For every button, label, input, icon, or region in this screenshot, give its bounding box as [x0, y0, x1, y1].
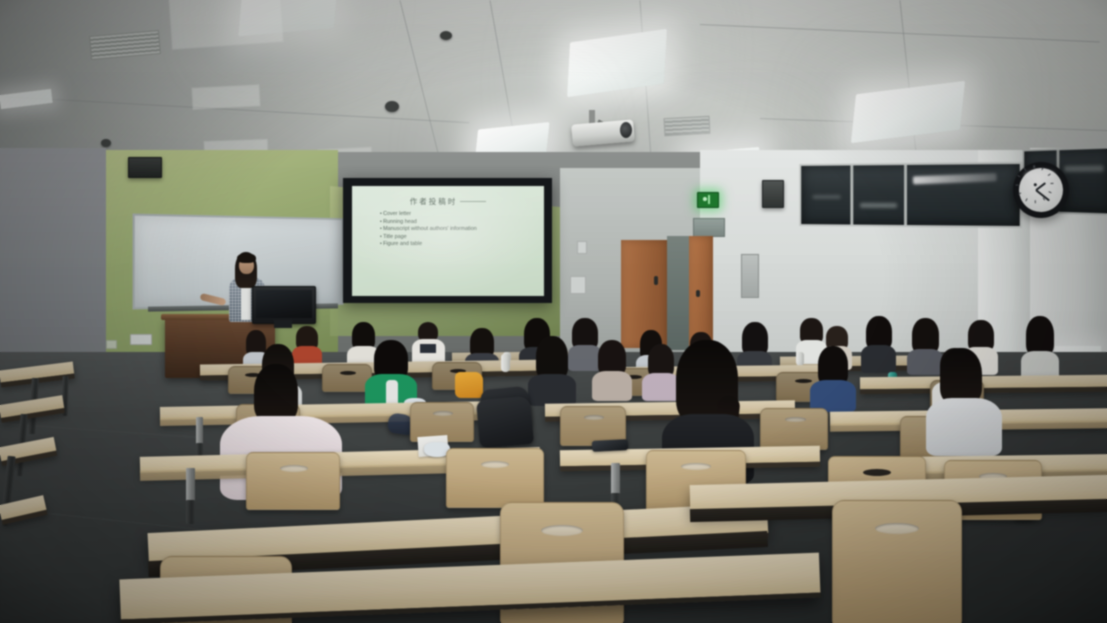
- window-mullion: [904, 165, 907, 225]
- chair-handle-slot: [340, 371, 356, 375]
- student-torso: [528, 374, 576, 406]
- door-transom-window: [693, 218, 725, 237]
- slide-bullet: Title page: [380, 234, 530, 242]
- water-bottle: [501, 354, 510, 372]
- chair-handle-slot: [481, 461, 509, 468]
- monitor-stand: [274, 320, 292, 328]
- chair-handle-slot: [875, 523, 919, 534]
- student-hair: [1026, 316, 1054, 356]
- chair-handle-slot: [785, 417, 806, 422]
- slide-bullet: Cover letter: [380, 211, 530, 219]
- projector-lens-icon: [620, 122, 632, 138]
- chair-handle-slot: [795, 379, 812, 383]
- chair-handle-slot: [541, 525, 583, 536]
- door-handle-icon[interactable]: [654, 276, 658, 285]
- classroom-photo: 作者投稿时 Cover letter Running head Manuscri…: [0, 0, 1107, 623]
- podium-monitor: [252, 286, 316, 324]
- smoke-detector-icon: [385, 101, 399, 112]
- window-reflection: [860, 203, 897, 208]
- ceiling-tile: [191, 84, 260, 110]
- wall-socket: [130, 334, 152, 345]
- desk-leg: [186, 468, 195, 502]
- chair-handle-slot: [584, 415, 604, 420]
- student-torso: [592, 371, 632, 401]
- chair[interactable]: [246, 452, 340, 510]
- window-mullion: [850, 165, 853, 224]
- slide-content: 作者投稿时 Cover letter Running head Manuscri…: [352, 186, 544, 296]
- chair-foreground[interactable]: [832, 500, 962, 623]
- presenter-inner-shirt: [241, 284, 251, 320]
- student-hair: [940, 348, 982, 404]
- slide-title-underline: [460, 201, 486, 202]
- slide-bullet: Manuscript without authors' information: [380, 226, 530, 234]
- projection-screen: 作者投稿时 Cover letter Running head Manuscri…: [352, 186, 544, 296]
- slide-title: 作者投稿时: [366, 196, 530, 207]
- student-torso: [907, 349, 943, 375]
- door-jamb: [667, 236, 689, 350]
- slide-bullet-list: Cover letter Running head Manuscript wit…: [380, 211, 530, 249]
- desk-leg: [196, 417, 203, 445]
- desk-leg: [611, 463, 620, 495]
- student-torso: [861, 345, 896, 373]
- window-reflection: [812, 195, 840, 199]
- presenter-hair-top: [237, 253, 256, 263]
- water-bottle: [796, 352, 804, 366]
- chair[interactable]: [446, 448, 544, 508]
- wall-plate: [577, 241, 587, 254]
- monitor-screen: [256, 290, 312, 318]
- chair-handle-slot: [863, 469, 891, 476]
- student-torso: [926, 398, 1002, 456]
- wall-speaker: [762, 180, 784, 208]
- clerestory-window: [799, 162, 1022, 228]
- desk-leg: [186, 500, 195, 524]
- wall-control-panel[interactable]: [741, 254, 759, 298]
- ceiling-vent: [664, 116, 711, 136]
- slide-bullet: Running head: [380, 219, 530, 227]
- chair[interactable]: [760, 408, 828, 450]
- backpack: [476, 396, 534, 449]
- window-reflection: [1064, 165, 1104, 172]
- wall-socket: [106, 340, 117, 349]
- yellow-bag: [455, 372, 483, 398]
- chair-handle-slot: [433, 411, 453, 416]
- door-handle-icon[interactable]: [696, 290, 700, 297]
- student-torso: [642, 373, 680, 401]
- smartphone[interactable]: [592, 439, 629, 452]
- exit-sign: [697, 192, 719, 208]
- student-torso: [568, 345, 602, 371]
- chair-handle-slot: [681, 463, 711, 470]
- slide-bullet: Figure and table: [380, 241, 530, 249]
- clock-center-pin: [1034, 183, 1037, 186]
- wall-plate: [570, 276, 586, 294]
- chair-handle-slot: [280, 465, 308, 472]
- clock-face: [1018, 167, 1064, 213]
- shirt-graphic: [420, 344, 436, 353]
- smoke-detector-icon: [101, 139, 111, 147]
- smoke-detector-icon: [440, 31, 452, 40]
- student-hair: [254, 364, 298, 422]
- window-reflection: [913, 173, 997, 184]
- wall-speaker: [128, 157, 162, 178]
